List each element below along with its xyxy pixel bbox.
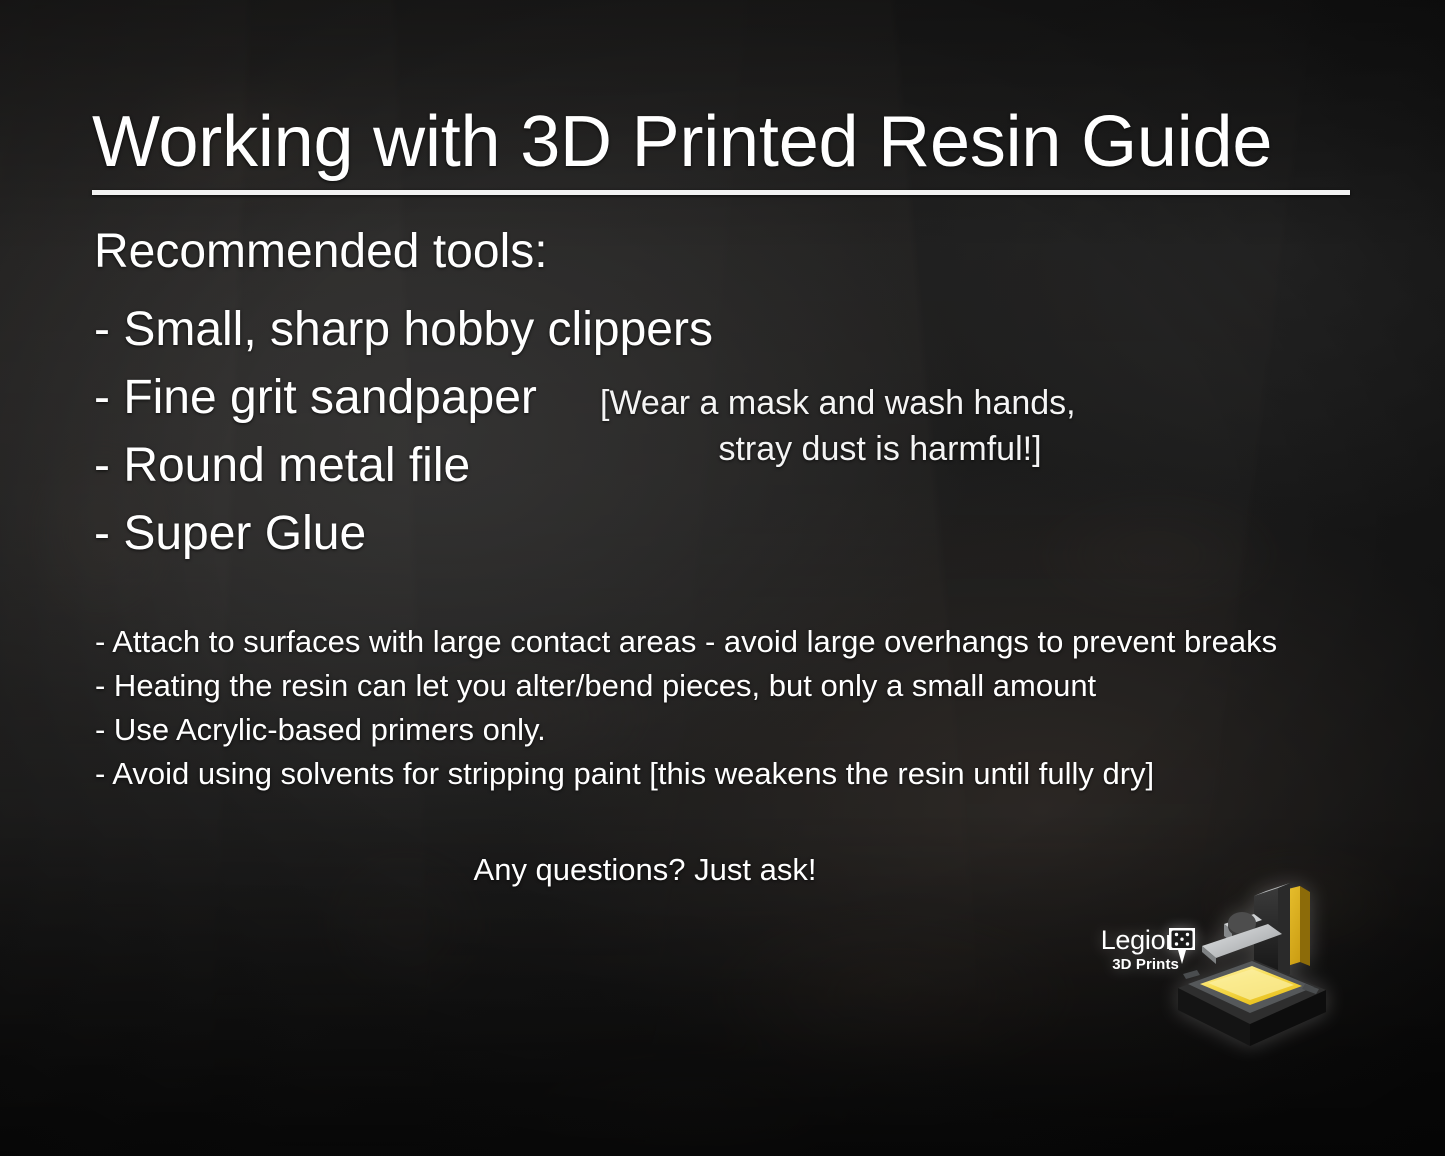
brand-logo: Legion 3D Prints — [1055, 880, 1355, 1070]
list-item: - Use Acrylic-based primers only. — [95, 708, 1395, 752]
safety-warning-line-2: stray dust is harmful!] — [600, 426, 1100, 472]
title-block: Working with 3D Printed Resin Guide — [92, 106, 1356, 195]
list-item: - Super Glue — [94, 500, 814, 568]
list-item: - Small, sharp hobby clippers — [94, 296, 814, 364]
tips-list: - Attach to surfaces with large contact … — [95, 620, 1395, 796]
list-item: - Avoid using solvents for stripping pai… — [95, 752, 1395, 796]
title-underline — [92, 190, 1350, 195]
slide-canvas: Working with 3D Printed Resin Guide Reco… — [0, 0, 1445, 1156]
list-item: - Heating the resin can let you alter/be… — [95, 664, 1395, 708]
list-item: - Attach to surfaces with large contact … — [95, 620, 1395, 664]
safety-warning-line-1: [Wear a mask and wash hands, — [600, 380, 1100, 426]
page-title: Working with 3D Printed Resin Guide — [92, 106, 1356, 178]
resin-3d-printer-icon — [1150, 880, 1355, 1055]
slide-content: Working with 3D Printed Resin Guide Reco… — [0, 0, 1445, 1156]
tools-heading: Recommended tools: — [94, 228, 548, 276]
safety-warning-note: [Wear a mask and wash hands, stray dust … — [600, 380, 1100, 472]
